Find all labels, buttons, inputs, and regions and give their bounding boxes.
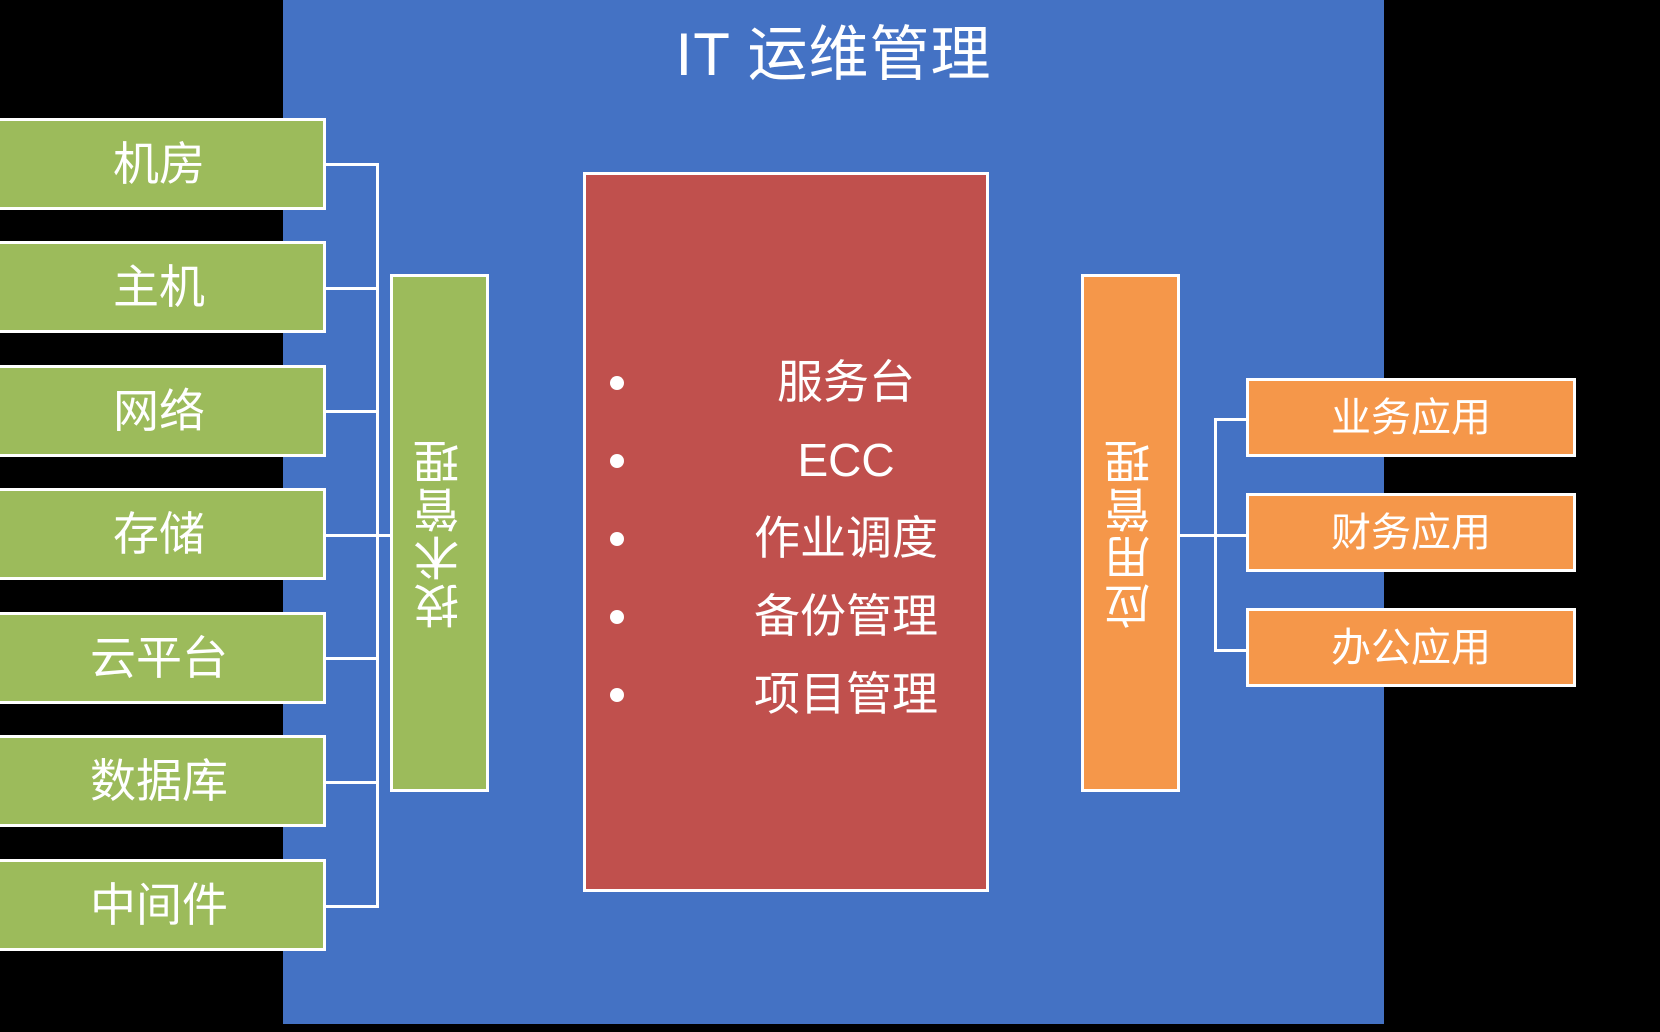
bullet-icon — [610, 688, 624, 702]
group-box-technology-management[interactable]: 技术管理 — [390, 274, 489, 792]
list-item-label: 作业调度 — [754, 512, 938, 564]
app-box-finance[interactable]: 财务应用 — [1246, 493, 1576, 572]
infra-box-zhongjianjian[interactable]: 中间件 — [0, 859, 326, 951]
app-box-label: 业务应用 — [1331, 396, 1491, 440]
app-box-office[interactable]: 办公应用 — [1246, 608, 1576, 687]
infra-stub-line-6 — [324, 781, 379, 784]
bullet-icon — [610, 532, 624, 546]
app-group-to-trunk-line — [1180, 534, 1216, 537]
list-item[interactable]: 项目管理 — [598, 655, 986, 733]
list-item-label: 服务台 — [777, 356, 915, 408]
infra-box-shujuku[interactable]: 数据库 — [0, 735, 326, 827]
infra-stub-line-5 — [324, 657, 379, 660]
infra-box-label: 主机 — [113, 262, 205, 313]
app-box-business[interactable]: 业务应用 — [1246, 378, 1576, 457]
infra-stub-line-1 — [324, 163, 379, 166]
infra-box-jifang[interactable]: 机房 — [0, 118, 326, 210]
infra-stub-line-7 — [324, 905, 379, 908]
infra-box-zhuji[interactable]: 主机 — [0, 241, 326, 333]
infra-stub-line-4 — [324, 534, 379, 537]
group-box-application-management[interactable]: 应用管理 — [1081, 274, 1180, 792]
page-title: IT 运维管理 — [283, 18, 1384, 92]
infra-stub-line-3 — [324, 410, 379, 413]
list-item-label: ECC — [797, 434, 894, 486]
list-item[interactable]: 服务台 — [598, 343, 986, 421]
infra-box-label: 数据库 — [90, 756, 228, 807]
infra-box-cunchu[interactable]: 存储 — [0, 488, 326, 580]
app-stub-line-2 — [1214, 534, 1250, 537]
bullet-icon — [610, 454, 624, 468]
app-box-label: 财务应用 — [1331, 511, 1491, 555]
list-item[interactable]: ECC — [598, 421, 986, 499]
diagram-canvas: IT 运维管理 机房 主机 网络 存储 云平台 数据库 中间件 技术管理 — [0, 0, 1660, 1032]
infra-stub-line-2 — [324, 287, 379, 290]
infra-box-yunpingtai[interactable]: 云平台 — [0, 612, 326, 704]
infra-box-label: 网络 — [113, 386, 205, 437]
core-services-box[interactable]: 服务台 ECC 作业调度 备份管理 项目管理 — [583, 172, 989, 892]
list-item-label: 项目管理 — [754, 668, 938, 720]
list-item[interactable]: 备份管理 — [598, 577, 986, 655]
app-box-label: 办公应用 — [1331, 626, 1491, 670]
infra-box-wangluo[interactable]: 网络 — [0, 365, 326, 457]
app-stub-line-1 — [1214, 418, 1250, 421]
app-stub-line-3 — [1214, 649, 1250, 652]
group-box-label: 技术管理 — [414, 437, 465, 629]
infra-box-label: 机房 — [113, 139, 205, 190]
infra-box-label: 云平台 — [90, 633, 228, 684]
infra-box-label: 存储 — [113, 509, 205, 560]
bullet-icon — [610, 376, 624, 390]
list-item[interactable]: 作业调度 — [598, 499, 986, 577]
core-services-list: 服务台 ECC 作业调度 备份管理 项目管理 — [586, 343, 986, 733]
infra-box-label: 中间件 — [90, 880, 228, 931]
list-item-label: 备份管理 — [754, 590, 938, 642]
group-box-label: 应用管理 — [1105, 437, 1156, 629]
bullet-icon — [610, 610, 624, 624]
